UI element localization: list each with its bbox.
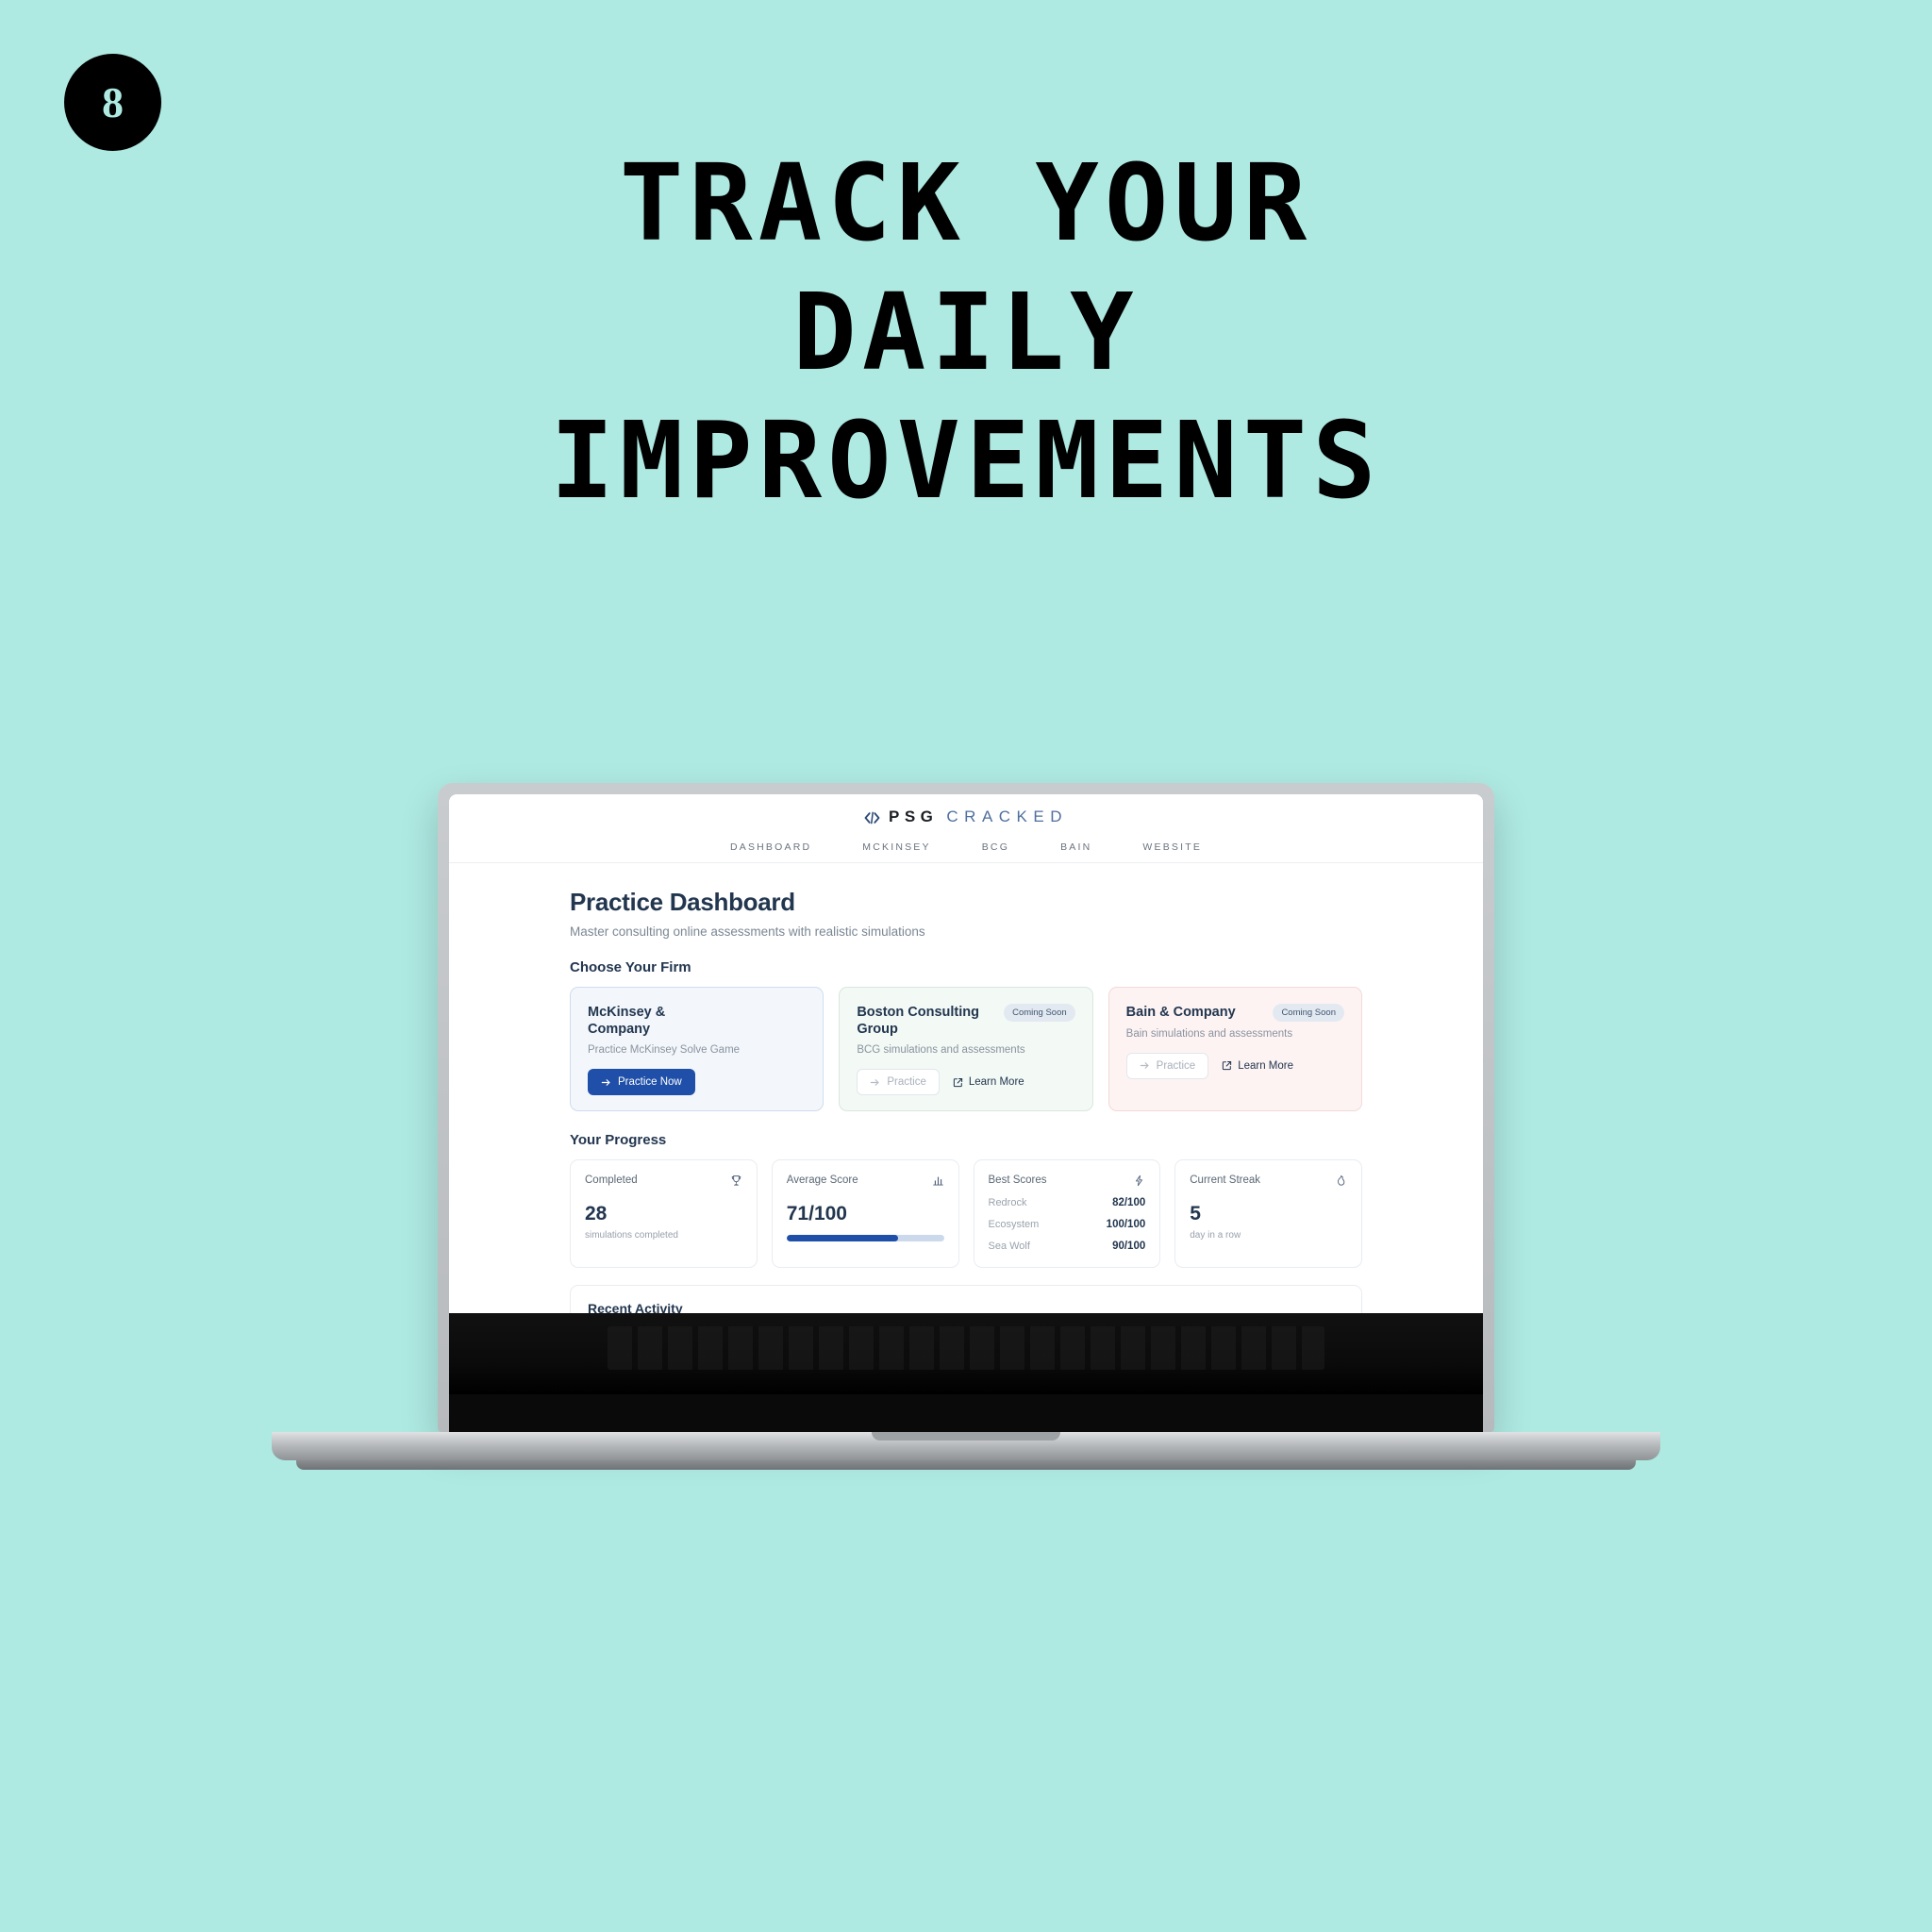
- firm-card-header: McKinsey & Company: [588, 1004, 806, 1038]
- logo-text-cracked: CRACKED: [946, 808, 1068, 826]
- firm-card-bcg[interactable]: Boston Consulting Group Coming Soon BCG …: [839, 987, 1092, 1111]
- practice-label: Practice: [1157, 1060, 1196, 1072]
- firm-name: McKinsey & Company: [588, 1004, 729, 1038]
- firm-actions: Practice: [857, 1069, 1074, 1095]
- practice-button-disabled: Practice: [857, 1069, 940, 1095]
- firm-description: Bain simulations and assessments: [1126, 1028, 1344, 1040]
- dashboard-content: Practice Dashboard Master consulting onl…: [449, 863, 1483, 1384]
- best-score-row: Sea Wolf 90/100: [989, 1241, 1146, 1252]
- stat-card-average-score: Average Score 7: [772, 1159, 959, 1268]
- nav-item-bain[interactable]: BAIN: [1060, 841, 1091, 853]
- stat-label: Best Scores: [989, 1174, 1047, 1186]
- learn-more-label: Learn More: [969, 1076, 1024, 1088]
- stat-label: Completed: [585, 1174, 638, 1186]
- code-brackets-icon: [864, 809, 880, 825]
- firm-actions: Practice: [1126, 1053, 1344, 1079]
- stat-header: Best Scores: [989, 1174, 1146, 1187]
- best-score-row: Redrock 82/100: [989, 1197, 1146, 1208]
- laptop-mockup: PSG CRACKED DASHBOARD MCKINSEY BCG BAIN …: [272, 783, 1660, 1470]
- stat-header: Completed: [585, 1174, 742, 1187]
- stat-label: Current Streak: [1190, 1174, 1260, 1186]
- stat-sublabel: simulations completed: [585, 1230, 742, 1241]
- step-number-label: 8: [102, 77, 124, 127]
- stat-header: Current Streak: [1190, 1174, 1347, 1187]
- firm-card-mckinsey[interactable]: McKinsey & Company Practice McKinsey Sol…: [570, 987, 824, 1111]
- page-title: Practice Dashboard: [570, 888, 1362, 917]
- firm-name: Boston Consulting Group: [857, 1004, 994, 1038]
- nav-item-dashboard[interactable]: DASHBOARD: [730, 841, 811, 853]
- main-nav: DASHBOARD MCKINSEY BCG BAIN WEBSITE: [449, 841, 1483, 853]
- site-header: PSG CRACKED DASHBOARD MCKINSEY BCG BAIN …: [449, 794, 1483, 863]
- stats-grid: Completed: [570, 1159, 1362, 1268]
- practice-now-label: Practice Now: [618, 1076, 682, 1088]
- laptop-lid: PSG CRACKED DASHBOARD MCKINSEY BCG BAIN …: [438, 783, 1494, 1432]
- status-badge-coming-soon: Coming Soon: [1004, 1004, 1075, 1022]
- stat-label: Average Score: [787, 1174, 858, 1186]
- external-link-icon: [1222, 1060, 1232, 1072]
- nav-item-bcg[interactable]: BCG: [982, 841, 1009, 853]
- stat-sublabel: day in a row: [1190, 1230, 1347, 1241]
- headline-line-2: DAILY: [0, 269, 1932, 398]
- stat-value: 5: [1190, 1203, 1347, 1225]
- stat-value: 71/100: [787, 1203, 944, 1225]
- learn-more-link[interactable]: Learn More: [1222, 1060, 1293, 1072]
- practice-label: Practice: [887, 1076, 926, 1088]
- arrow-right-icon: [870, 1076, 880, 1088]
- firm-card-header: Bain & Company Coming Soon: [1126, 1004, 1344, 1022]
- poster-headline: TRACK YOUR DAILY IMPROVEMENTS: [0, 140, 1932, 526]
- learn-more-label: Learn More: [1238, 1060, 1293, 1072]
- best-score-name: Sea Wolf: [989, 1241, 1030, 1252]
- page-subtitle: Master consulting online assessments wit…: [570, 924, 1362, 939]
- step-number-badge: 8: [64, 54, 161, 151]
- headline-line-3: IMPROVEMENTS: [0, 397, 1932, 526]
- bar-chart-icon: [932, 1174, 944, 1187]
- best-score-name: Redrock: [989, 1197, 1027, 1208]
- firm-card-header: Boston Consulting Group Coming Soon: [857, 1004, 1074, 1038]
- firm-description: BCG simulations and assessments: [857, 1044, 1074, 1056]
- firm-card-grid: McKinsey & Company Practice McKinsey Sol…: [570, 987, 1362, 1111]
- laptop-keyboard-reflection: [449, 1313, 1483, 1394]
- flame-icon: [1335, 1174, 1347, 1187]
- firm-card-bain[interactable]: Bain & Company Coming Soon Bain simulati…: [1108, 987, 1362, 1111]
- keyboard-keys: [608, 1326, 1324, 1370]
- stat-header: Average Score: [787, 1174, 944, 1187]
- stat-value: 28: [585, 1203, 742, 1225]
- best-score-row: Ecosystem 100/100: [989, 1219, 1146, 1230]
- progress-fill: [787, 1235, 898, 1241]
- nav-item-mckinsey[interactable]: MCKINSEY: [862, 841, 930, 853]
- laptop-foot: [296, 1460, 1636, 1470]
- external-link-icon: [953, 1076, 963, 1088]
- laptop-base: [272, 1432, 1660, 1460]
- your-progress-heading: Your Progress: [570, 1132, 1362, 1148]
- firm-name: Bain & Company: [1126, 1004, 1236, 1021]
- laptop-screen: PSG CRACKED DASHBOARD MCKINSEY BCG BAIN …: [449, 794, 1483, 1432]
- nav-item-website[interactable]: WEBSITE: [1142, 841, 1202, 853]
- lightning-icon: [1133, 1174, 1145, 1187]
- logo-text-psg: PSG: [889, 808, 938, 826]
- best-score-value: 82/100: [1112, 1197, 1145, 1208]
- firm-description: Practice McKinsey Solve Game: [588, 1044, 806, 1056]
- trophy-icon: [730, 1174, 742, 1187]
- firm-actions: Practice Now: [588, 1069, 806, 1095]
- status-badge-coming-soon: Coming Soon: [1273, 1004, 1344, 1022]
- practice-now-button[interactable]: Practice Now: [588, 1069, 695, 1095]
- arrow-right-icon: [601, 1076, 611, 1088]
- arrow-right-icon: [1140, 1060, 1150, 1072]
- best-score-value: 90/100: [1112, 1241, 1145, 1252]
- practice-button-disabled: Practice: [1126, 1053, 1209, 1079]
- best-score-name: Ecosystem: [989, 1219, 1040, 1230]
- headline-line-1: TRACK YOUR: [0, 140, 1932, 269]
- best-score-value: 100/100: [1107, 1219, 1146, 1230]
- learn-more-link[interactable]: Learn More: [953, 1076, 1024, 1088]
- stat-card-completed: Completed: [570, 1159, 758, 1268]
- dashboard-page: PSG CRACKED DASHBOARD MCKINSEY BCG BAIN …: [449, 794, 1483, 1384]
- stat-card-current-streak: Current Streak 5 day in a row: [1174, 1159, 1362, 1268]
- average-score-progress-bar: [787, 1235, 944, 1241]
- stat-card-best-scores: Best Scores Redrock 82/100: [974, 1159, 1161, 1268]
- choose-firm-heading: Choose Your Firm: [570, 959, 1362, 975]
- site-logo[interactable]: PSG CRACKED: [449, 808, 1483, 826]
